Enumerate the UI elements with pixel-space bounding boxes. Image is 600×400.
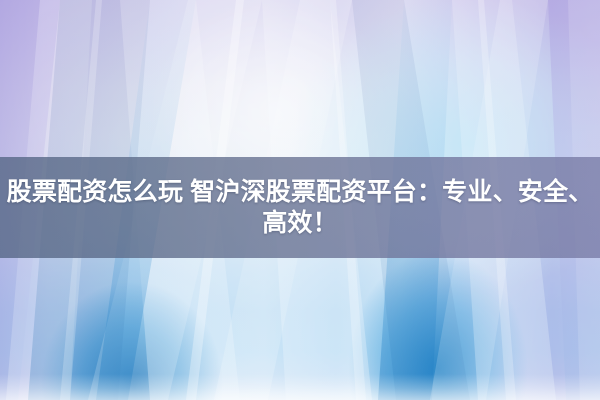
banner-title: 股票配资怎么玩 智沪深股票配资平台：专业、安全、高效！ — [6, 177, 594, 239]
promo-banner: 股票配资怎么玩 智沪深股票配资平台：专业、安全、高效！ — [0, 0, 600, 400]
title-band: 股票配资怎么玩 智沪深股票配资平台：专业、安全、高效！ — [0, 157, 600, 258]
bottom-haze — [0, 374, 600, 400]
